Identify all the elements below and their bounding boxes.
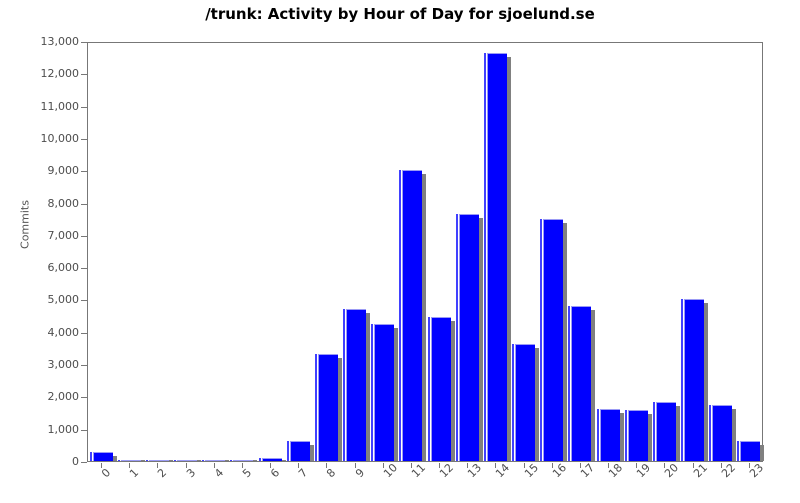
bar-left-edge: [428, 317, 430, 461]
bar[interactable]: [202, 460, 229, 461]
bar-left-edge: [259, 458, 261, 461]
bar[interactable]: [399, 170, 426, 461]
bar-front-face: [487, 53, 507, 461]
y-tick-label: 6,000: [48, 261, 80, 275]
x-tick-label: 3: [184, 466, 198, 480]
bar[interactable]: [287, 441, 314, 461]
x-tick-label: 6: [268, 466, 282, 480]
bar-left-edge: [146, 460, 148, 461]
bar-front-face: [684, 299, 704, 462]
bar[interactable]: [597, 409, 624, 461]
y-tick-label: 11,000: [41, 100, 80, 114]
bar[interactable]: [568, 306, 595, 461]
x-tick-label: 5: [240, 466, 254, 480]
x-tick-label: 1: [127, 466, 141, 480]
y-tick-label: 8,000: [48, 197, 80, 211]
y-tick-label: 7,000: [48, 229, 80, 243]
bar-left-edge: [653, 402, 655, 461]
y-tick-label: 0: [72, 455, 79, 469]
bar[interactable]: [653, 402, 680, 461]
bar-series: [88, 43, 762, 461]
y-tick-label: 1,000: [48, 423, 80, 437]
bar-front-face: [262, 458, 282, 461]
bar[interactable]: [625, 410, 652, 461]
x-axis-ticks: 01234567891011121314151617181920212223: [87, 463, 763, 503]
bar-front-face: [459, 214, 479, 461]
x-tick-label: 7: [296, 466, 310, 480]
bar-front-face: [177, 460, 197, 461]
bar-left-edge: [174, 460, 176, 461]
bar-front-face: [600, 409, 620, 461]
bar[interactable]: [371, 324, 398, 461]
y-axis-ticks: 01,0002,0003,0004,0005,0006,0007,0008,00…: [0, 42, 87, 462]
bar-left-edge: [568, 306, 570, 461]
bar-front-face: [712, 405, 732, 461]
bar[interactable]: [343, 309, 370, 461]
bar-left-edge: [118, 460, 120, 461]
bar-front-face: [515, 344, 535, 461]
bar-left-edge: [202, 460, 204, 461]
y-tick-label: 5,000: [48, 293, 80, 307]
bar-left-edge: [315, 354, 317, 461]
y-tick-label: 12,000: [41, 67, 80, 81]
x-tick-label: 2: [155, 466, 169, 480]
y-tick-label: 2,000: [48, 390, 80, 404]
bar[interactable]: [737, 441, 764, 461]
bar-left-edge: [456, 214, 458, 461]
bar-left-edge: [597, 409, 599, 461]
bar-left-edge: [540, 219, 542, 461]
bar-left-edge: [737, 441, 739, 461]
y-tick-label: 9,000: [48, 164, 80, 178]
bar-front-face: [628, 410, 648, 461]
x-tick-label: 9: [353, 466, 367, 480]
x-tick-label: 0: [99, 466, 113, 480]
bar-left-edge: [371, 324, 373, 461]
bar[interactable]: [174, 460, 201, 461]
bar-left-edge: [709, 405, 711, 461]
activity-by-hour-chart: /trunk: Activity by Hour of Day for sjoe…: [0, 0, 800, 500]
bar-left-edge: [484, 53, 486, 461]
bar[interactable]: [428, 317, 455, 461]
bar-front-face: [318, 354, 338, 461]
bar-front-face: [431, 317, 451, 461]
y-tick-label: 10,000: [41, 132, 80, 146]
bar[interactable]: [118, 460, 145, 461]
bar[interactable]: [315, 354, 342, 461]
bar-left-edge: [287, 441, 289, 461]
bar[interactable]: [540, 219, 567, 461]
bar[interactable]: [681, 299, 708, 462]
bar-front-face: [93, 452, 113, 461]
bar-left-edge: [512, 344, 514, 461]
bar-front-face: [149, 460, 169, 461]
y-tick-label: 4,000: [48, 326, 80, 340]
bar-front-face: [233, 460, 253, 461]
bar[interactable]: [512, 344, 539, 461]
y-tick-label: 3,000: [48, 358, 80, 372]
bar-left-edge: [681, 299, 683, 462]
y-tick-label: 13,000: [41, 35, 80, 49]
chart-title: /trunk: Activity by Hour of Day for sjoe…: [0, 5, 800, 23]
plot-area: [87, 42, 763, 462]
bar-left-edge: [343, 309, 345, 461]
bar-front-face: [543, 219, 563, 461]
bar-left-edge: [230, 460, 232, 461]
bar-left-edge: [399, 170, 401, 461]
bar[interactable]: [456, 214, 483, 461]
bar-front-face: [402, 170, 422, 461]
bar-front-face: [740, 441, 760, 461]
bar-left-edge: [625, 410, 627, 461]
bar-front-face: [571, 306, 591, 461]
x-tick-label: 8: [324, 466, 338, 480]
bar[interactable]: [90, 452, 117, 461]
bar-front-face: [290, 441, 310, 461]
bar[interactable]: [259, 458, 286, 461]
x-tick-label: 4: [212, 466, 226, 480]
bar-front-face: [374, 324, 394, 461]
bar-left-edge: [90, 452, 92, 461]
bar[interactable]: [709, 405, 736, 461]
bar-front-face: [656, 402, 676, 461]
bar-front-face: [121, 460, 141, 461]
bar-front-face: [346, 309, 366, 461]
bar[interactable]: [146, 460, 173, 461]
bar-front-face: [205, 460, 225, 461]
bar[interactable]: [484, 53, 511, 461]
bar[interactable]: [230, 460, 257, 461]
